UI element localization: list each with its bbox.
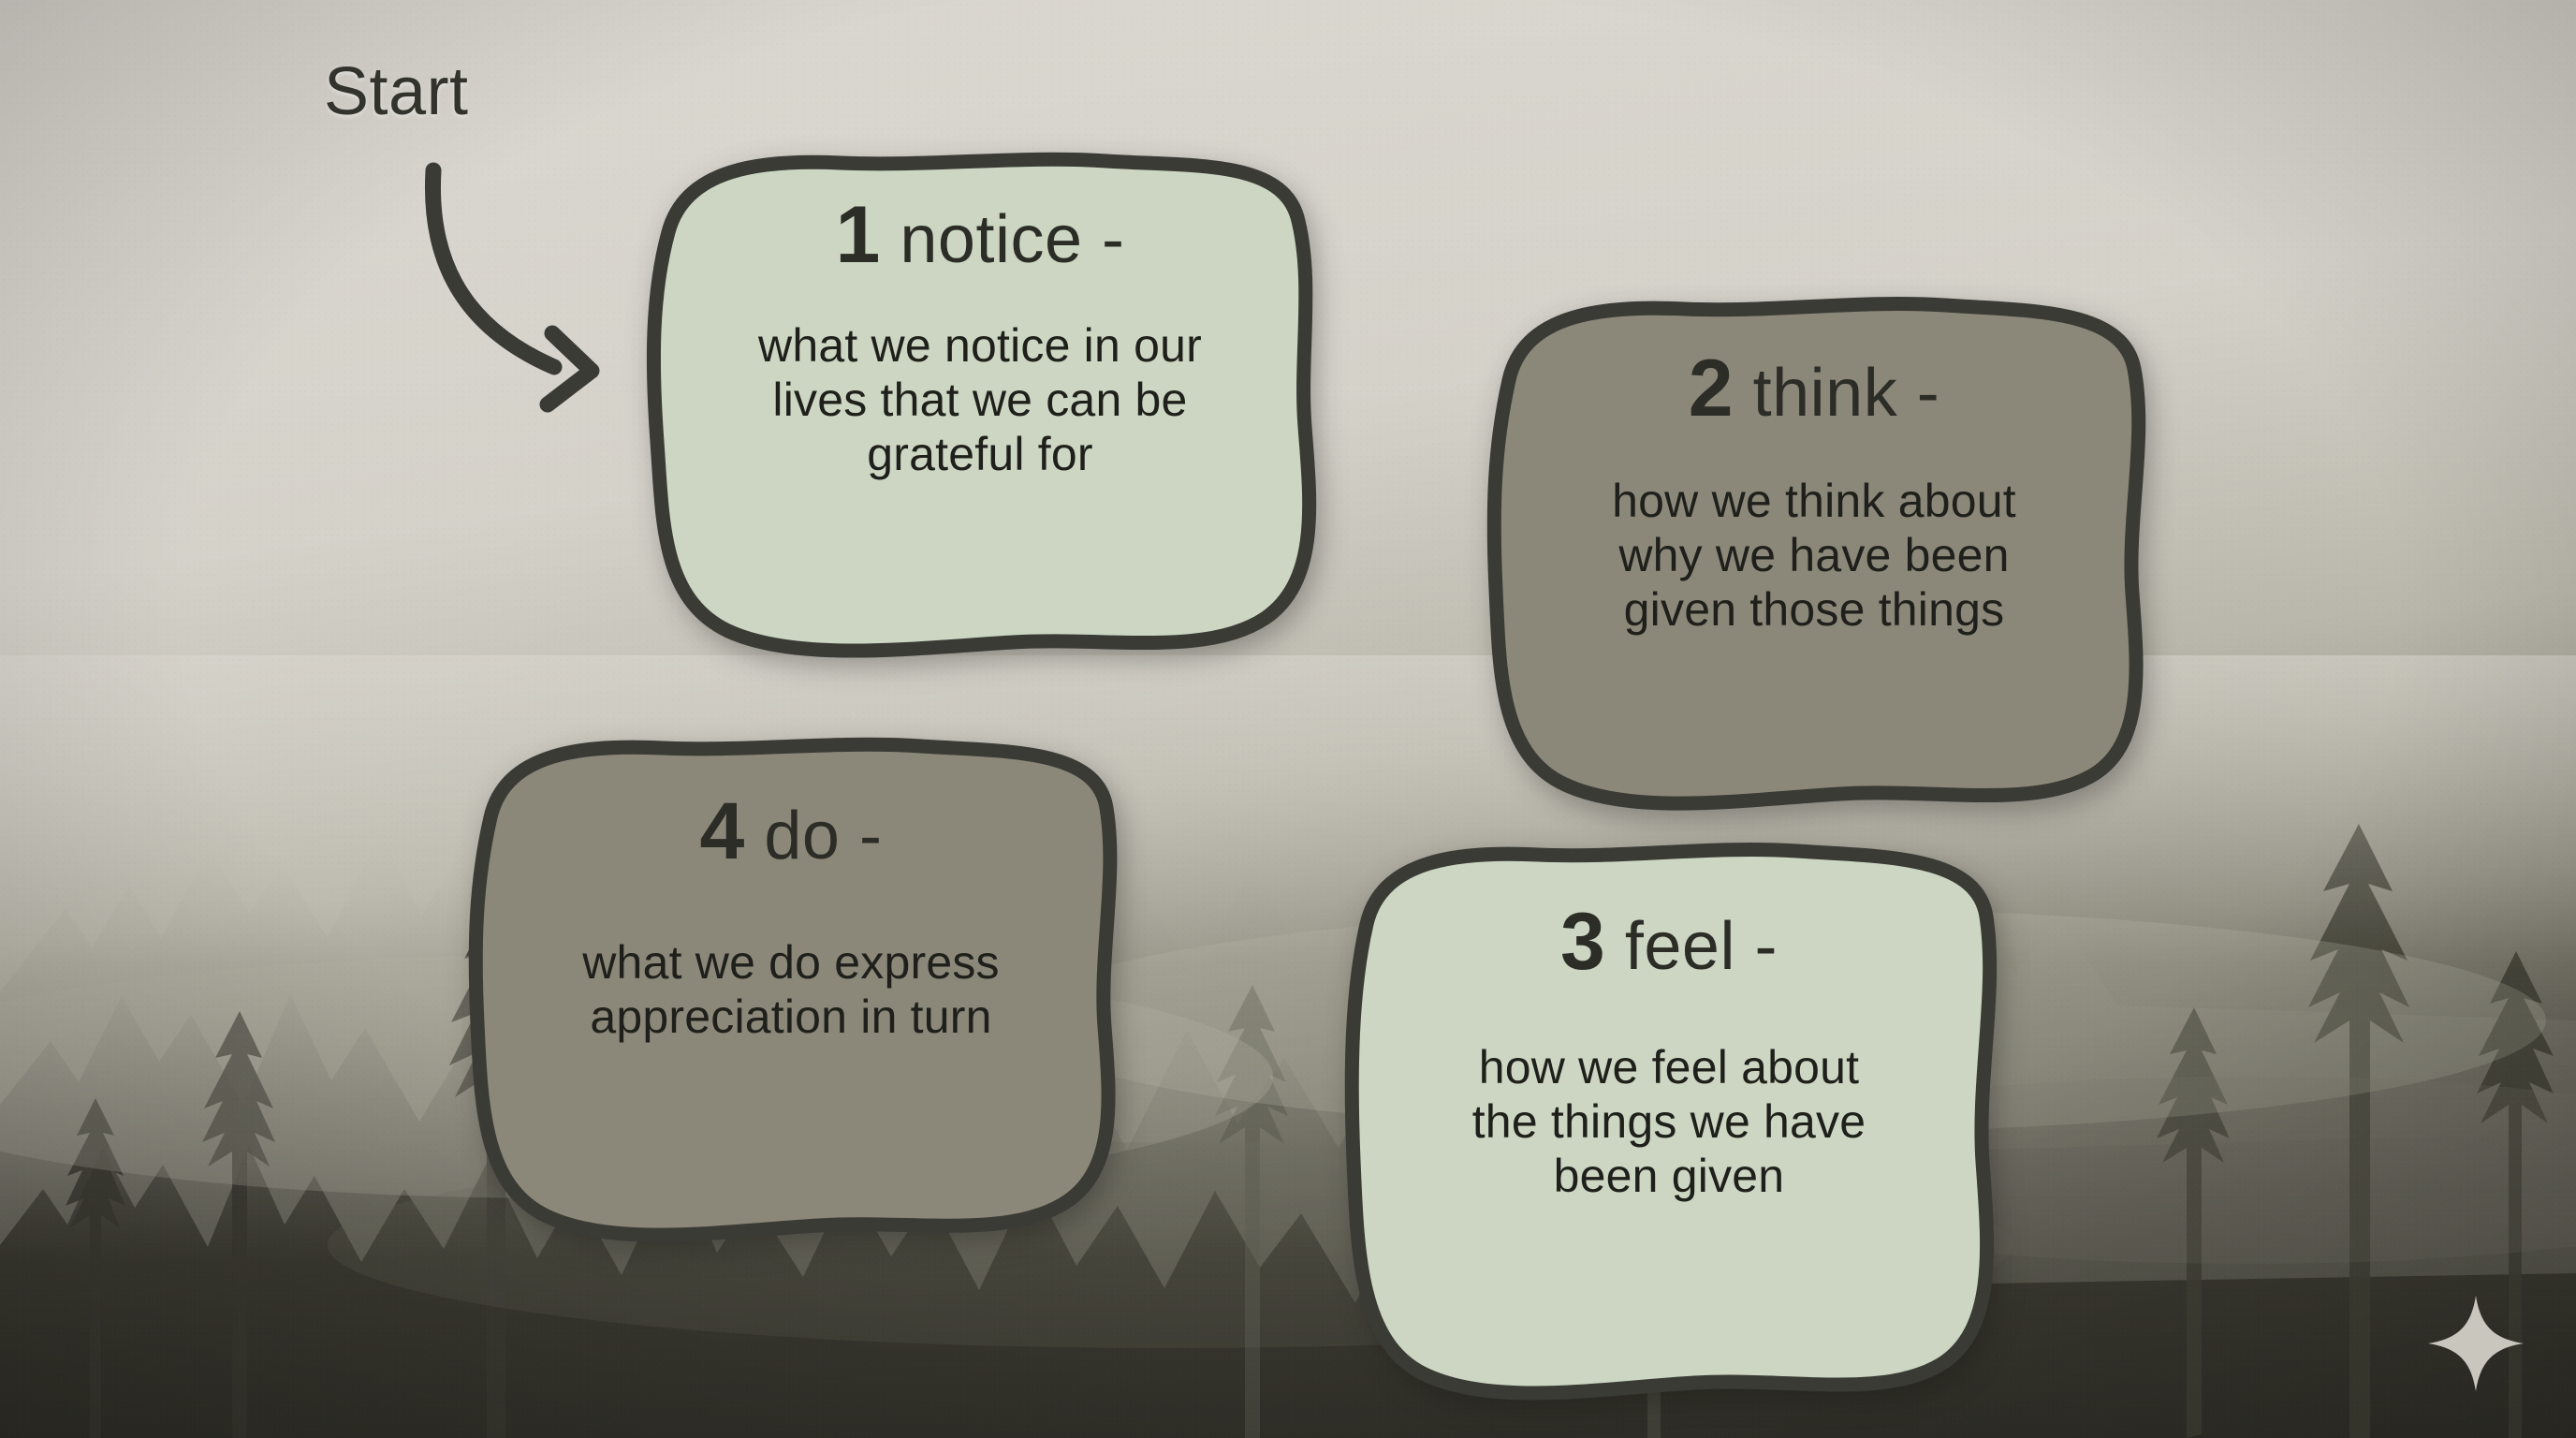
card-4-content: 4 do - what we do express appreciation i… xyxy=(449,726,1133,1250)
card-3-description: how we feel about the things we have bee… xyxy=(1472,1040,1866,1203)
card-1-content: 1 notice - what we notice in our lives t… xyxy=(620,142,1340,667)
start-label: Start xyxy=(324,58,469,125)
card-1-word: notice - xyxy=(900,206,1124,273)
sparkle-icon xyxy=(2424,1292,2527,1395)
card-4-word: do - xyxy=(764,802,882,870)
card-4-description: what we do express appreciation in turn xyxy=(582,935,1000,1044)
card-2-word: think - xyxy=(1753,359,1940,427)
slide-canvas: Start 1 notice - what we notice in our l… xyxy=(0,0,2576,1438)
card-1-description: what we notice in our lives that we can … xyxy=(758,318,1202,481)
step-card-4[interactable]: 4 do - what we do express appreciation i… xyxy=(449,726,1133,1250)
card-3-title: 3 feel - xyxy=(1560,902,1778,982)
card-3-number: 3 xyxy=(1560,902,1604,982)
card-1-number: 1 xyxy=(836,195,880,275)
card-3-content: 3 feel - how we feel about the things we… xyxy=(1327,829,2011,1414)
card-4-number: 4 xyxy=(700,791,744,872)
card-2-number: 2 xyxy=(1689,348,1733,429)
step-card-2[interactable]: 2 think - how we think about why we have… xyxy=(1468,281,2160,824)
step-card-3[interactable]: 3 feel - how we feel about the things we… xyxy=(1327,829,2011,1414)
card-3-word: feel - xyxy=(1625,913,1778,980)
card-2-title: 2 think - xyxy=(1689,348,1939,429)
card-1-title: 1 notice - xyxy=(836,195,1125,275)
card-4-title: 4 do - xyxy=(700,791,883,872)
step-card-1[interactable]: 1 notice - what we notice in our lives t… xyxy=(620,142,1340,667)
card-2-description: how we think about why we have been give… xyxy=(1612,474,2016,637)
card-2-content: 2 think - how we think about why we have… xyxy=(1468,281,2160,824)
